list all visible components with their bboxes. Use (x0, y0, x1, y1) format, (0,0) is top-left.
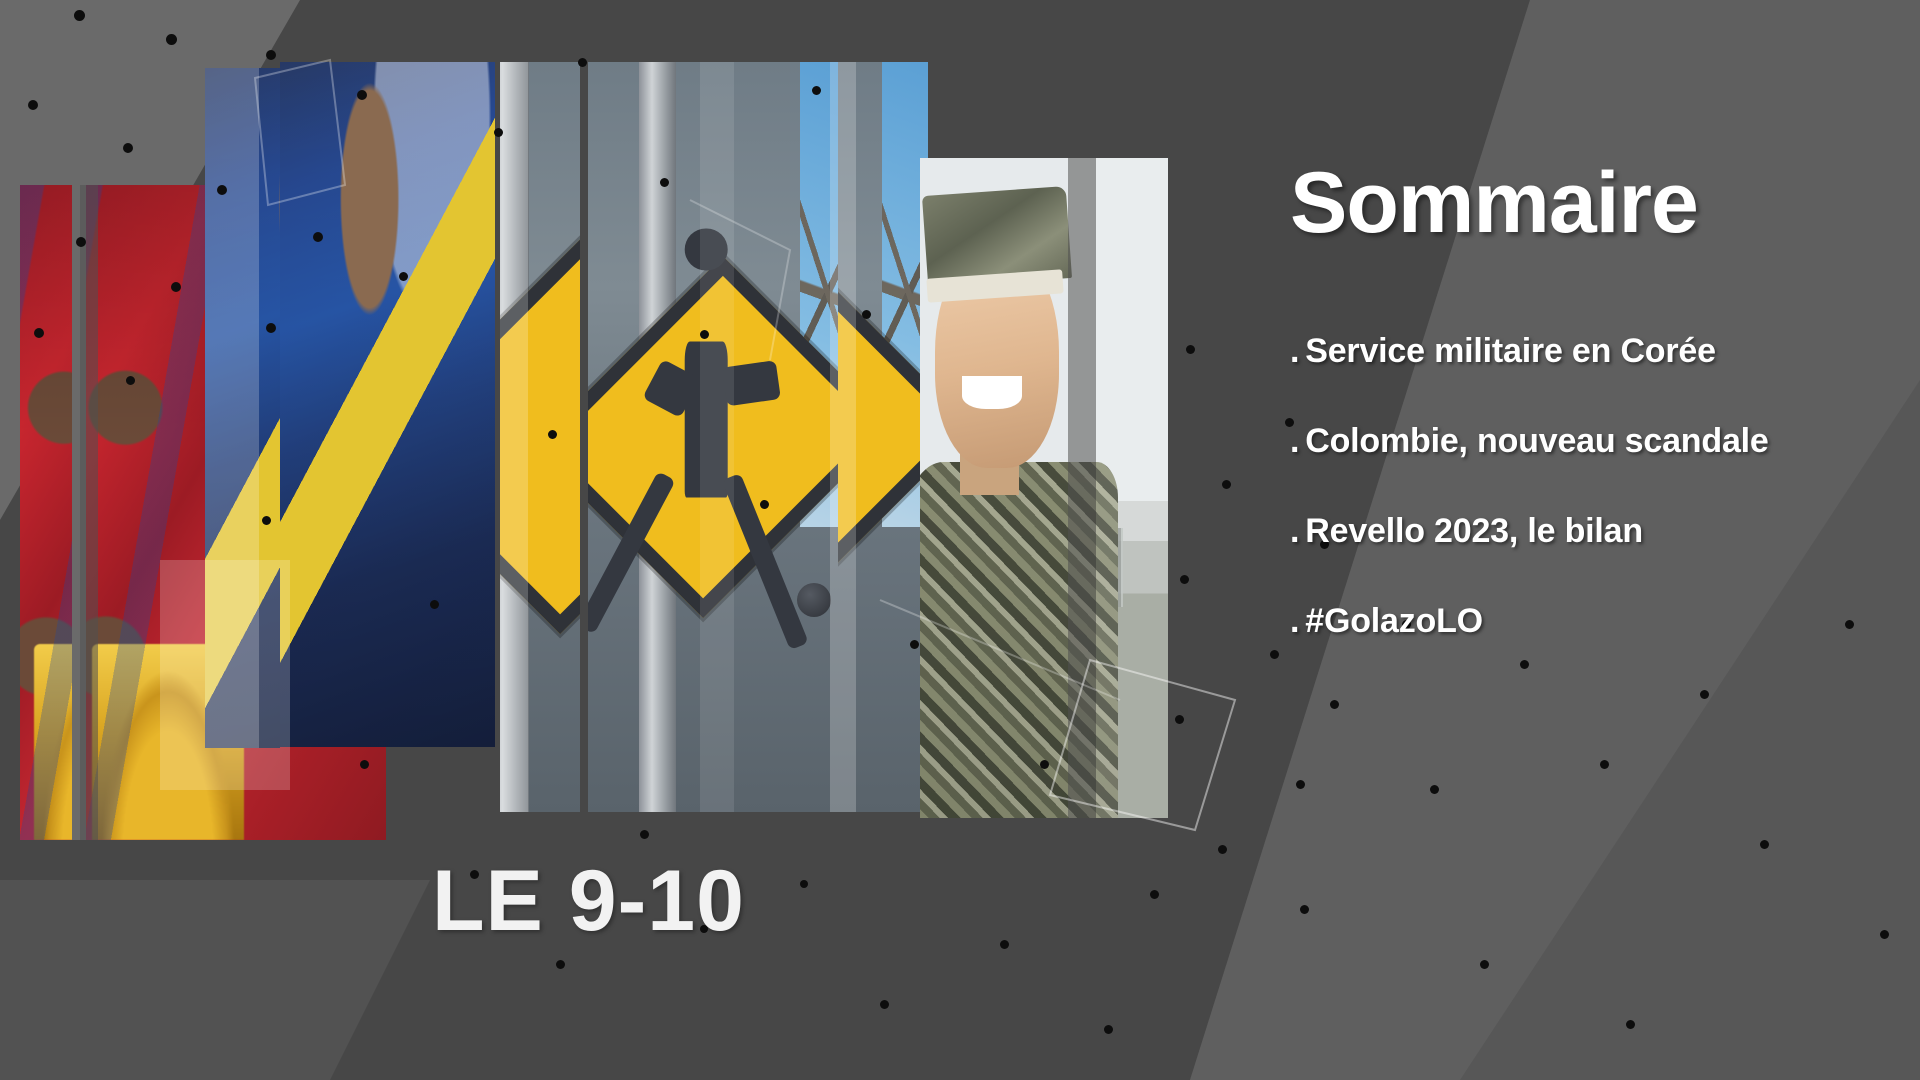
agenda-panel: Sommaire .Service militaire en Corée .Co… (1290, 160, 1890, 692)
trophy-graphic (34, 644, 72, 841)
agenda-bullet: . (1290, 512, 1299, 550)
photo-collage (0, 0, 1180, 860)
slide-canvas: Sommaire .Service militaire en Corée .Co… (0, 0, 1920, 1080)
overlay-pane (160, 560, 290, 790)
agenda-item-label: Colombie, nouveau scandale (1305, 422, 1768, 460)
page-title: Sommaire (1290, 160, 1890, 246)
agenda-item-label: #GolazoLO (1305, 602, 1483, 640)
photo-red-team (20, 185, 72, 840)
photo-blue-jersey-main (280, 62, 495, 747)
agenda-item-golazolo[interactable]: .#GolazoLO (1290, 602, 1890, 641)
overlay-pane (500, 62, 528, 812)
agenda-item-label: Service militaire en Corée (1305, 332, 1716, 370)
overlay-dim-bar (80, 185, 98, 840)
agenda-item-service-militaire[interactable]: .Service militaire en Corée (1290, 332, 1890, 371)
collage-photo-blue-jersey-main (280, 62, 495, 747)
show-logo: LE 9-10 (432, 852, 745, 951)
soldier-smile (962, 376, 1022, 409)
overlay-pane (830, 62, 856, 812)
overlay-pane (700, 62, 734, 812)
agenda-item-revello[interactable]: .Revello 2023, le bilan (1290, 512, 1890, 551)
agenda-item-label: Revello 2023, le bilan (1305, 512, 1643, 550)
agenda-bullet: . (1290, 602, 1299, 640)
agenda-bullet: . (1290, 422, 1299, 460)
agenda-bullet: . (1290, 332, 1299, 370)
overlay-dim-bar (1068, 158, 1096, 818)
agenda-item-colombie[interactable]: .Colombie, nouveau scandale (1290, 422, 1890, 461)
overlay-pane (1096, 158, 1168, 818)
collage-photo-red-team-celebration (20, 185, 72, 840)
sign-bolt-graphic (797, 583, 831, 617)
